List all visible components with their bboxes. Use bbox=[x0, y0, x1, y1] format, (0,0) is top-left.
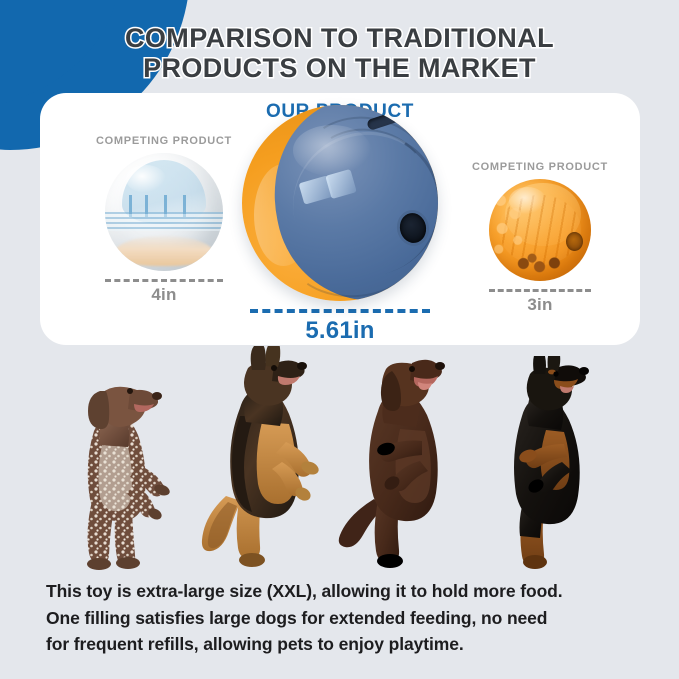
ball-dispense-hole bbox=[566, 232, 583, 251]
ball-ribbed-band bbox=[105, 212, 223, 231]
translucent-orange-ball-icon bbox=[489, 179, 591, 281]
competing-product-label-right: COMPETING PRODUCT bbox=[456, 161, 624, 173]
caption-line-1: This toy is extra-large size (XXL), allo… bbox=[46, 578, 646, 605]
ball-highlight bbox=[509, 187, 546, 214]
size-label-center: 5.61in bbox=[234, 317, 446, 345]
caption-line-3: for frequent refills, allowing pets to e… bbox=[46, 631, 646, 658]
dog-photo-row bbox=[0, 346, 679, 571]
ball-kibble-fill bbox=[511, 250, 572, 277]
ball-highlight bbox=[293, 125, 371, 176]
translucent-white-ball-icon bbox=[105, 153, 223, 271]
competing-product-label-left: COMPETING PRODUCT bbox=[78, 135, 250, 147]
comparison-card: OUR PRODUCT COMPETING PRODUCT 4in bbox=[40, 93, 640, 345]
blue-orange-treat-ball-icon bbox=[242, 105, 438, 301]
measurement-right: 3in bbox=[456, 289, 624, 315]
dog-german-shorthaired-pointer bbox=[58, 361, 178, 571]
dashed-measure-line-right bbox=[489, 289, 591, 292]
caption-block: This toy is extra-large size (XXL), allo… bbox=[46, 578, 646, 658]
product-column-right: COMPETING PRODUCT 3in bbox=[456, 161, 624, 315]
product-column-left: COMPETING PRODUCT 4in bbox=[78, 135, 250, 305]
dog-german-shepherd bbox=[190, 346, 325, 571]
measurement-center: 5.61in bbox=[234, 309, 446, 345]
dashed-measure-line-left bbox=[105, 279, 223, 282]
dog-doberman bbox=[478, 356, 608, 571]
size-label-right: 3in bbox=[456, 295, 624, 315]
dog-chocolate-labrador bbox=[330, 349, 465, 571]
size-label-left: 4in bbox=[78, 285, 250, 305]
dashed-measure-line-center bbox=[250, 309, 430, 313]
caption-line-2: One filling satisfies large dogs for ext… bbox=[46, 605, 646, 632]
product-column-center: 5.61in bbox=[234, 105, 446, 345]
measurement-left: 4in bbox=[78, 279, 250, 305]
ball-food-fill bbox=[114, 236, 213, 267]
